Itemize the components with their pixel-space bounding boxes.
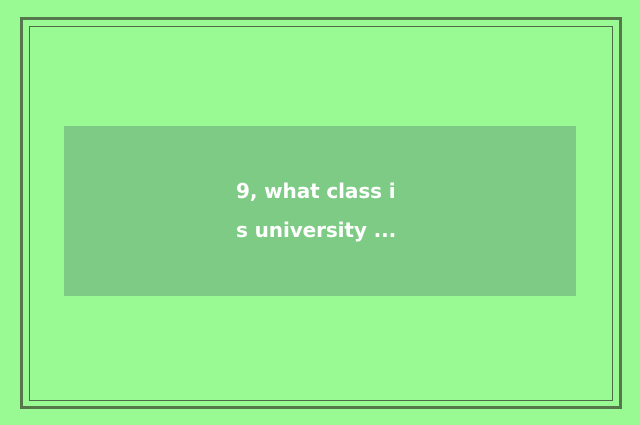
- caption-text-block: 9, what class i s university ...: [236, 172, 566, 250]
- content-panel: 9, what class i s university ...: [64, 126, 576, 296]
- caption-line-1: 9, what class i: [236, 172, 566, 211]
- screenshot-canvas: 9, what class i s university ...: [0, 0, 640, 425]
- caption-line-2: s university ...: [236, 211, 566, 250]
